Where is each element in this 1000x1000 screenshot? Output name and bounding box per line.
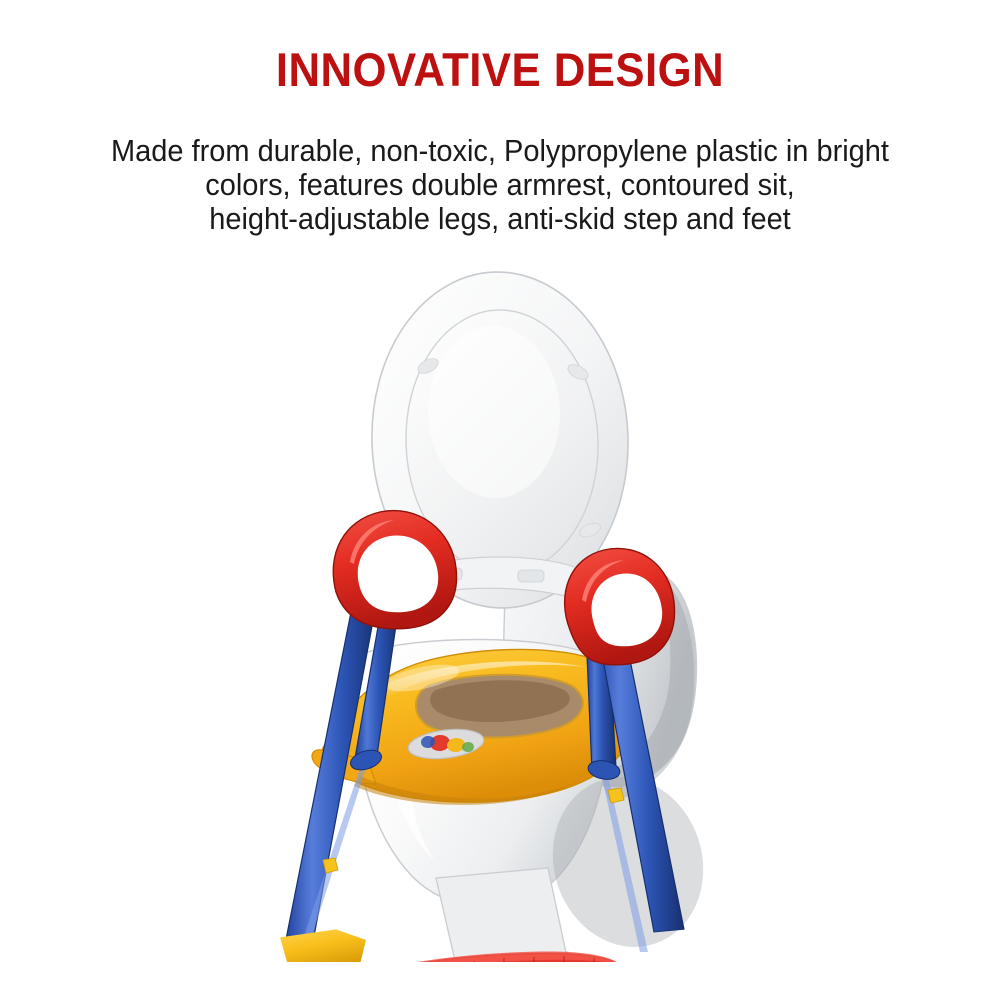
left-adjuster-clip <box>323 858 338 873</box>
description-line-1: Made from durable, non-toxic, Polypropyl… <box>82 134 918 168</box>
right-adjuster-clip-1 <box>608 788 624 803</box>
product-feature-panel: INNOVATIVE DESIGN Made from durable, non… <box>0 0 1000 1000</box>
description-line-2: colors, features double armrest, contour… <box>82 168 918 202</box>
left-handle[interactable] <box>333 511 456 629</box>
description-paragraph: Made from durable, non-toxic, Polypropyl… <box>82 134 918 236</box>
product-image: Kids toilet training seat with ladder mo… <box>250 262 750 962</box>
page-title: INNOVATIVE DESIGN <box>35 44 965 96</box>
left-foot <box>268 929 366 962</box>
description-line-3: height-adjustable legs, anti-skid step a… <box>82 202 918 236</box>
toilet-pedestal <box>436 868 568 962</box>
hinge-bolt-right <box>518 570 544 582</box>
right-handle[interactable] <box>565 548 675 664</box>
